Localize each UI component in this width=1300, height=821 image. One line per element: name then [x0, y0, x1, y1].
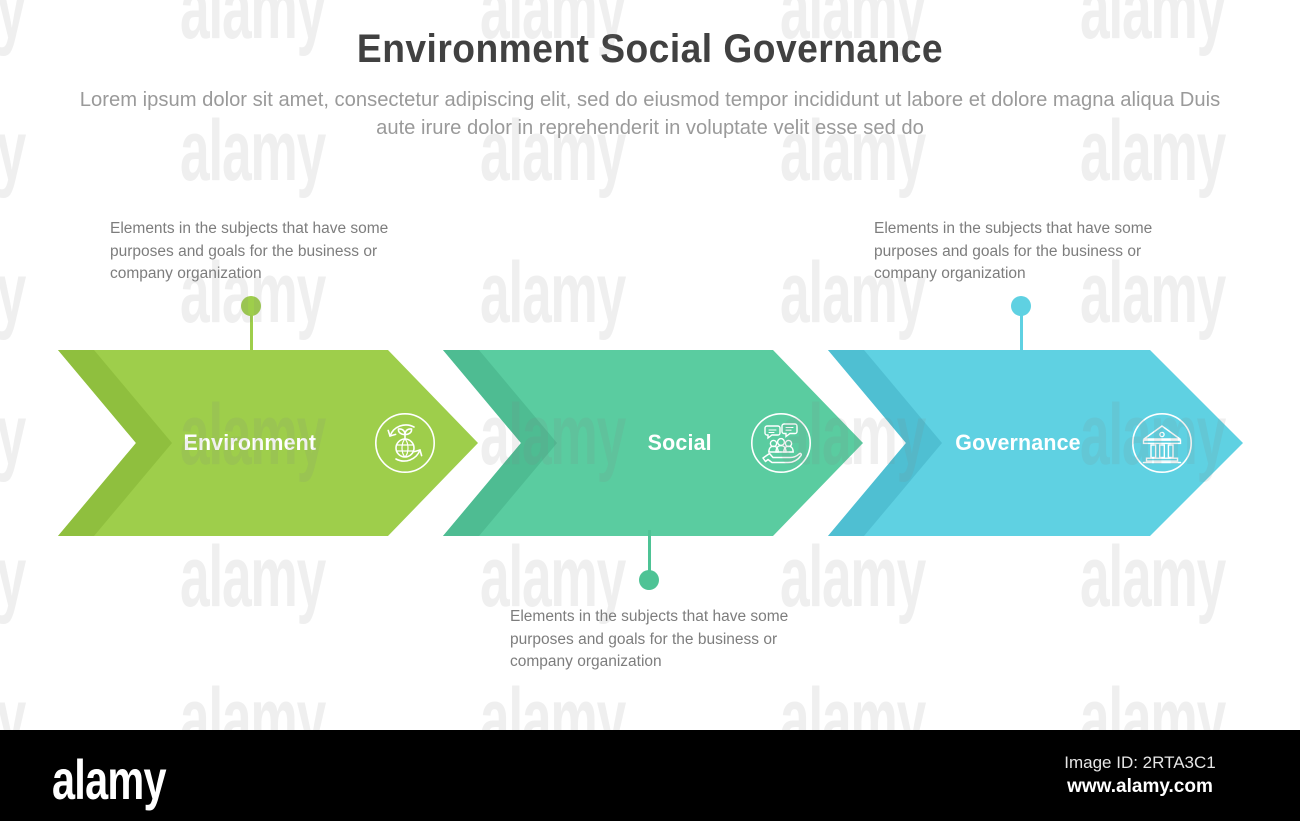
stage-label-governance: Governance — [955, 430, 1080, 456]
connector-line-governance — [1020, 312, 1023, 356]
description-environment: Elements in the subjects that have some … — [110, 218, 390, 286]
bank-building-icon — [1131, 412, 1193, 474]
page-subtitle: Lorem ipsum dolor sit amet, consectetur … — [79, 86, 1222, 141]
infographic-canvas: Environment Social Governance Lorem ipsu… — [0, 0, 1300, 730]
alamy-logo: alamy — [52, 747, 166, 812]
description-governance: Elements in the subjects that have some … — [874, 218, 1154, 286]
connector-governance — [1010, 296, 1032, 356]
connector-social — [638, 530, 660, 592]
connector-environment — [240, 296, 262, 356]
page-title: Environment Social Governance — [46, 26, 1255, 72]
hand-people-chat-icon — [750, 412, 812, 474]
globe-leaf-recycle-icon — [374, 412, 436, 474]
process-arrow-band: Environment — [58, 350, 1243, 536]
header: Environment Social Governance Lorem ipsu… — [0, 26, 1300, 141]
stage-label-social: Social — [648, 430, 712, 456]
connector-line-environment — [250, 312, 253, 356]
description-social: Elements in the subjects that have some … — [510, 606, 795, 674]
footer-meta: Image ID: 2RTA3C1 www.alamy.com — [1010, 752, 1270, 800]
connector-dot-social — [639, 570, 659, 590]
alamy-url[interactable]: www.alamy.com — [1010, 774, 1270, 800]
image-id-label: Image ID: 2RTA3C1 — [1010, 752, 1270, 773]
stage-label-environment: Environment — [183, 430, 316, 456]
footer-bar: alamy Image ID: 2RTA3C1 www.alamy.com — [0, 730, 1300, 821]
